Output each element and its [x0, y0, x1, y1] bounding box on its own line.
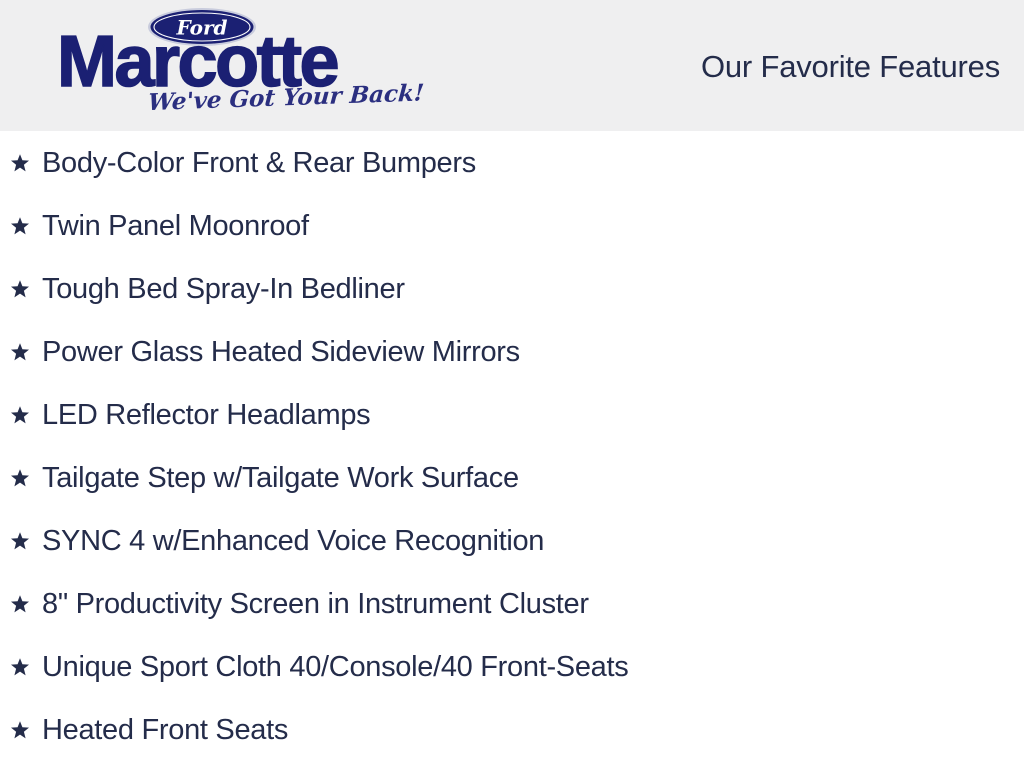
- list-item: Heated Front Seats: [0, 698, 1024, 761]
- star-icon: [10, 720, 30, 740]
- list-item-label: Body-Color Front & Rear Bumpers: [42, 146, 476, 180]
- list-item: Unique Sport Cloth 40/Console/40 Front-S…: [0, 635, 1024, 698]
- page-header: Ford Marcotte We've Got Your Back! Our F…: [0, 0, 1024, 131]
- page-title: Our Favorite Features: [701, 48, 1000, 86]
- list-item-label: Tough Bed Spray-In Bedliner: [42, 272, 405, 306]
- star-icon: [10, 531, 30, 551]
- dealer-logo: Ford Marcotte We've Got Your Back!: [48, 2, 388, 130]
- list-item-label: Power Glass Heated Sideview Mirrors: [42, 335, 520, 369]
- dealer-tagline: We've Got Your Back!: [147, 80, 389, 122]
- list-item: SYNC 4 w/Enhanced Voice Recognition: [0, 509, 1024, 572]
- list-item-label: Tailgate Step w/Tailgate Work Surface: [42, 461, 519, 495]
- star-icon: [10, 342, 30, 362]
- list-item-label: LED Reflector Headlamps: [42, 398, 370, 432]
- favorite-features-list: Body-Color Front & Rear Bumpers Twin Pan…: [0, 131, 1024, 768]
- list-item: Power Glass Heated Sideview Mirrors: [0, 320, 1024, 383]
- star-icon: [10, 594, 30, 614]
- feature-highlights-page: Ford Marcotte We've Got Your Back! Our F…: [0, 0, 1024, 768]
- list-item-label: Heated Front Seats: [42, 713, 288, 747]
- star-icon: [10, 216, 30, 236]
- list-item-label: Twin Panel Moonroof: [42, 209, 309, 243]
- list-item: Twin Panel Moonroof: [0, 194, 1024, 257]
- star-icon: [10, 153, 30, 173]
- list-item-label: 8" Productivity Screen in Instrument Clu…: [42, 587, 589, 621]
- list-item: 8" Productivity Screen in Instrument Clu…: [0, 572, 1024, 635]
- list-item: Body-Color Front & Rear Bumpers: [0, 131, 1024, 194]
- list-item: LED Reflector Headlamps: [0, 383, 1024, 446]
- star-icon: [10, 657, 30, 677]
- list-item: Tough Bed Spray-In Bedliner: [0, 257, 1024, 320]
- list-item-label: SYNC 4 w/Enhanced Voice Recognition: [42, 524, 544, 558]
- star-icon: [10, 405, 30, 425]
- list-item: Tailgate Step w/Tailgate Work Surface: [0, 446, 1024, 509]
- list-item-label: Unique Sport Cloth 40/Console/40 Front-S…: [42, 650, 628, 684]
- star-icon: [10, 468, 30, 488]
- star-icon: [10, 279, 30, 299]
